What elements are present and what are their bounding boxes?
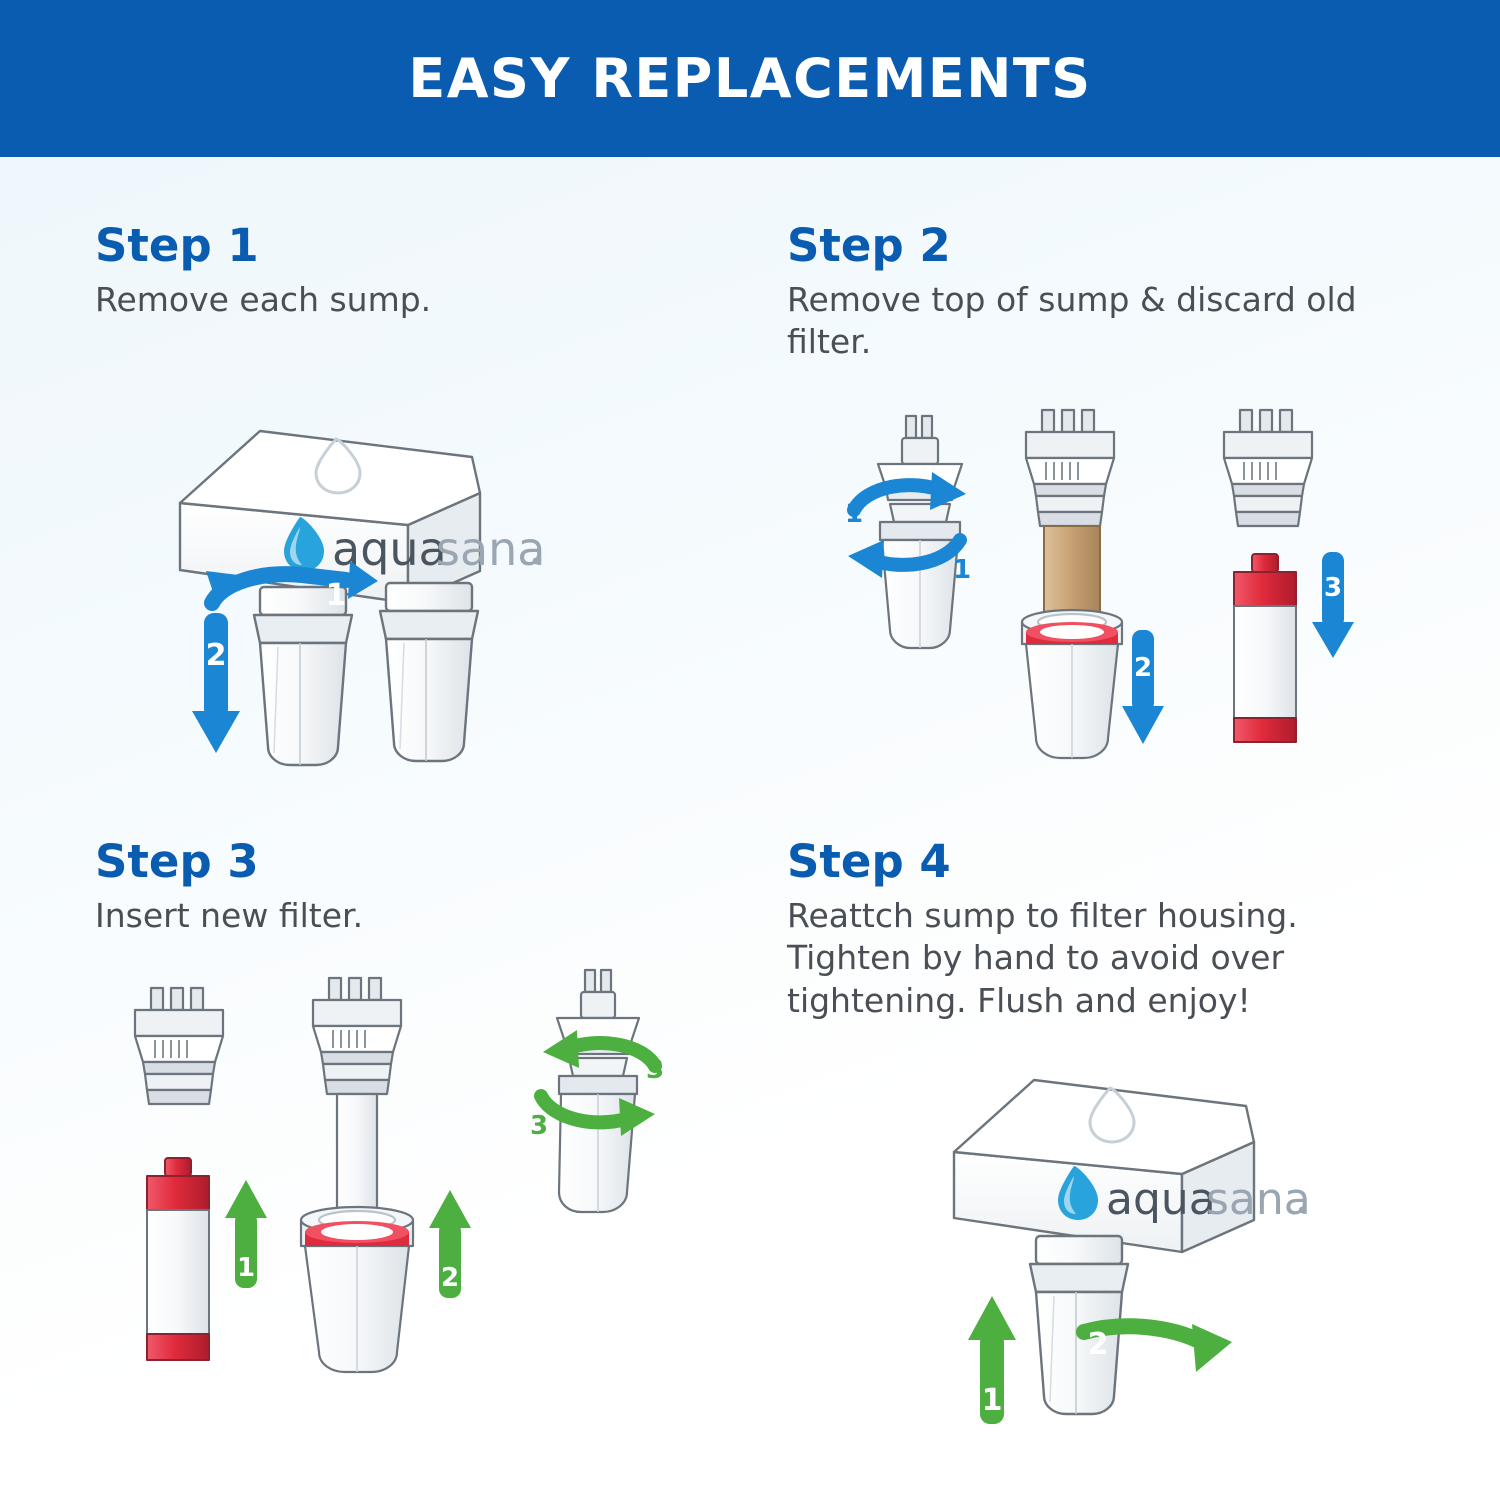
svg-text:1: 1 bbox=[845, 499, 863, 529]
step-block-2: Step 2 Remove top of sump & discard old … bbox=[787, 222, 1407, 364]
left-sump bbox=[254, 587, 352, 765]
svg-text:2: 2 bbox=[206, 638, 227, 673]
step-4-description: Reattch sump to filter housing. Tighten … bbox=[787, 895, 1407, 1022]
svg-text:2: 2 bbox=[1088, 1327, 1109, 1362]
cap-with-stem-middle bbox=[313, 978, 401, 1220]
step-2-title: Step 2 bbox=[787, 222, 1407, 269]
step-block-1: Step 1 Remove each sump. bbox=[95, 222, 431, 321]
svg-text:3: 3 bbox=[646, 1055, 664, 1085]
red-gasket bbox=[1026, 622, 1118, 644]
step-4-title: Step 4 bbox=[787, 838, 1407, 885]
step-3-title: Step 3 bbox=[95, 838, 363, 885]
right-sump bbox=[380, 583, 478, 761]
page-title: EASY REPLACEMENTS bbox=[408, 47, 1091, 110]
step-3-description: Insert new filter. bbox=[95, 895, 363, 937]
step-1-illustration: aqua sana bbox=[150, 375, 630, 799]
new-filter-cartridge bbox=[147, 1158, 209, 1360]
arrow-1-badge: 1 bbox=[326, 578, 347, 613]
removed-filter-cartridge bbox=[1234, 554, 1296, 742]
step-block-3: Step 3 Insert new filter. bbox=[95, 838, 363, 937]
sump-with-cap-assembly bbox=[878, 416, 962, 648]
svg-text:3: 3 bbox=[1324, 573, 1342, 603]
svg-text:2: 2 bbox=[441, 1263, 459, 1293]
arrow-2-up: 2 bbox=[429, 1190, 471, 1298]
step-4-illustration: aqua sana 1 2 bbox=[880, 1040, 1360, 1464]
svg-text:aqua: aqua bbox=[332, 522, 447, 576]
svg-text:1: 1 bbox=[326, 578, 347, 613]
svg-text:aqua: aqua bbox=[1106, 1174, 1216, 1225]
easy-replacements-infographic: EASY REPLACEMENTS Step 1 Remove each sum… bbox=[0, 0, 1500, 1500]
svg-text:sana: sana bbox=[1206, 1174, 1311, 1225]
arrow-1-up: 1 bbox=[225, 1180, 267, 1288]
reassembled-sump-right bbox=[557, 970, 639, 1212]
step-3-illustration: 1 bbox=[95, 960, 735, 1424]
svg-text:3: 3 bbox=[530, 1111, 548, 1141]
svg-text:1: 1 bbox=[982, 1383, 1003, 1418]
step-1-description: Remove each sump. bbox=[95, 279, 431, 321]
arrow-2-badge: 2 bbox=[206, 638, 227, 673]
cap-with-old-filter bbox=[1026, 410, 1114, 526]
svg-text:2: 2 bbox=[1134, 653, 1152, 683]
step-2-description: Remove top of sump & discard old filter. bbox=[787, 279, 1407, 363]
svg-text:1: 1 bbox=[953, 555, 971, 585]
arrow-3-down: 3 bbox=[1312, 552, 1354, 658]
step-1-title: Step 1 bbox=[95, 222, 431, 269]
step-block-4: Step 4 Reattch sump to filter housing. T… bbox=[787, 838, 1407, 1022]
arrow-1-up: 1 bbox=[968, 1296, 1016, 1424]
svg-text:1: 1 bbox=[237, 1253, 255, 1283]
step-2-illustration: 1 1 bbox=[820, 400, 1480, 804]
arrow-2-down: 2 bbox=[1122, 630, 1164, 744]
arrow-2-down bbox=[192, 613, 240, 753]
red-gasket-middle bbox=[305, 1221, 409, 1246]
header-banner: EASY REPLACEMENTS bbox=[0, 0, 1500, 157]
cap-left bbox=[135, 988, 223, 1104]
filter-housing-body bbox=[954, 1080, 1254, 1252]
svg-text:sana: sana bbox=[436, 522, 546, 576]
cap-alone bbox=[1224, 410, 1312, 526]
